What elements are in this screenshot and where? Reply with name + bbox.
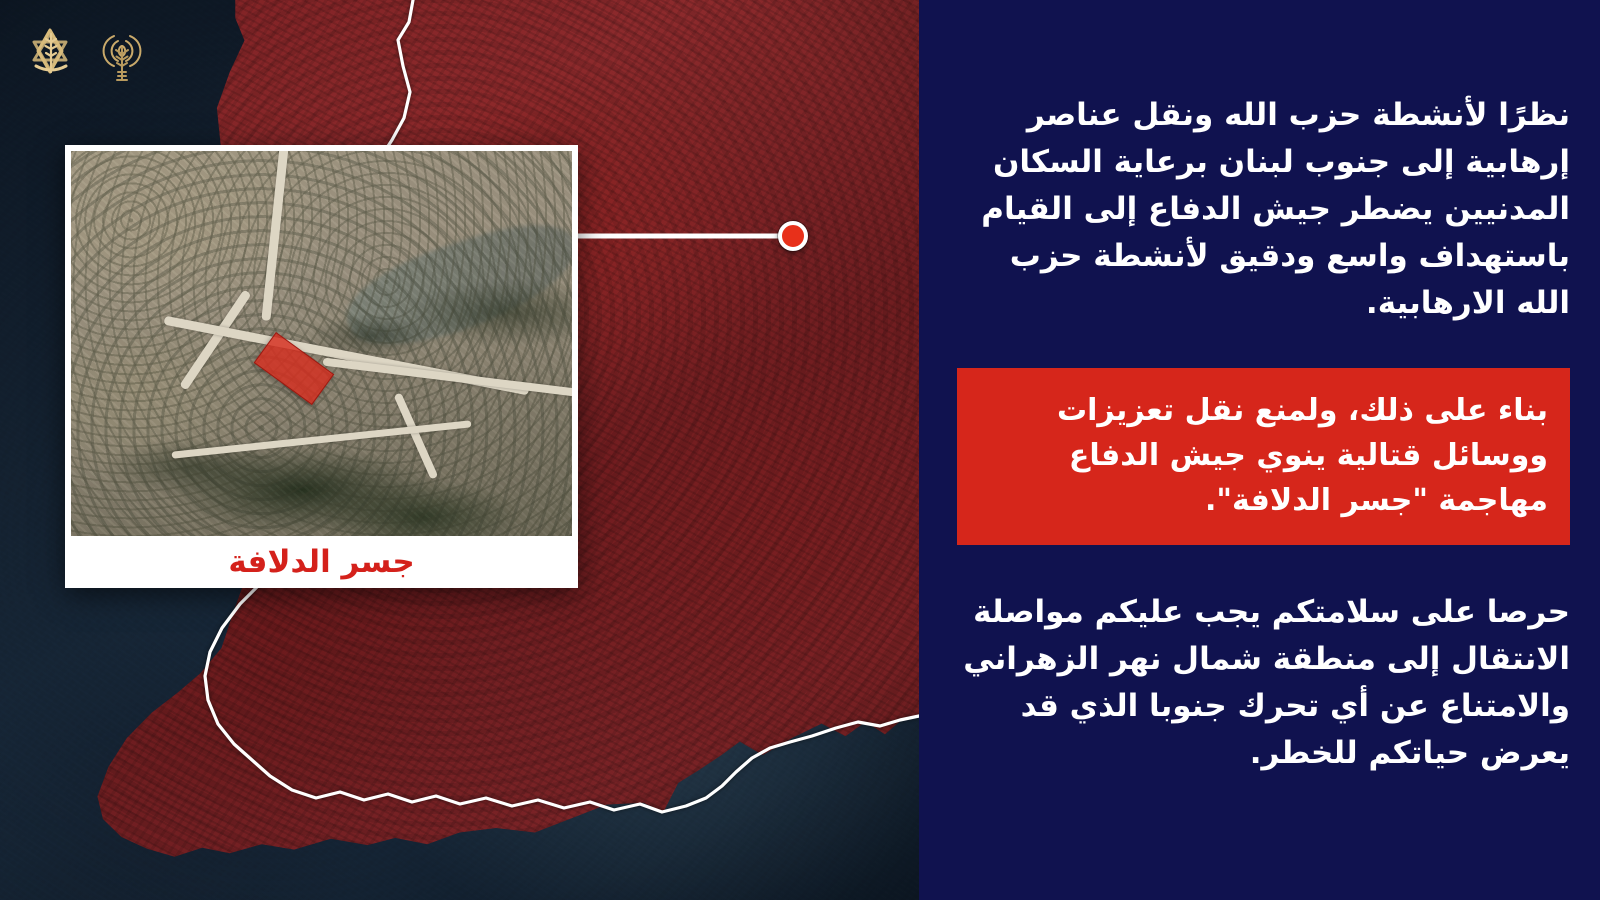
inset-caption-label: جسر الدلافة — [228, 544, 414, 580]
broadcast-antenna-menorah-icon — [94, 22, 150, 84]
paragraph-reason: نظرًا لأنشطة حزب الله ونقل عناصر إرهابية… — [957, 92, 1570, 328]
inset-caption-band: جسر الدلافة — [71, 536, 572, 588]
paragraph-warning: بناء على ذلك، ولمنع نقل تعزيزات ووسائل ق… — [979, 388, 1548, 523]
map-pane: جسر الدلافة — [0, 0, 919, 900]
logo-group — [22, 22, 150, 84]
message-panel: نظرًا لأنشطة حزب الله ونقل عناصر إرهابية… — [919, 0, 1600, 900]
satellite-inset-card: جسر الدلافة — [65, 145, 578, 588]
idf-emblem-icon — [22, 22, 78, 84]
satellite-speckle-texture — [71, 151, 572, 536]
warning-highlight-block: بناء على ذلك، ولمنع نقل تعزيزات ووسائل ق… — [957, 368, 1570, 545]
paragraph-instruction: حرصا على سلامتكم يجب عليكم مواصلة الانتق… — [957, 589, 1570, 777]
satellite-photo — [71, 151, 572, 536]
target-location-pin — [778, 221, 808, 251]
evacuation-warning-graphic: جسر الدلافة — [0, 0, 1600, 900]
